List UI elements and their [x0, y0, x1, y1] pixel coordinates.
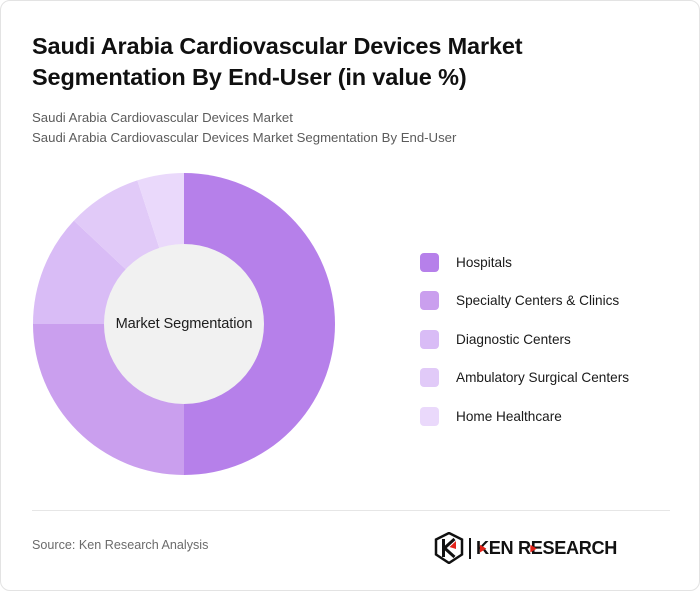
legend-item[interactable]: Home Healthcare — [420, 397, 685, 436]
legend-swatch-icon — [420, 407, 439, 426]
legend-item[interactable]: Ambulatory Surgical Centers — [420, 359, 685, 398]
svg-text:KEN RESEARCH: KEN RESEARCH — [476, 538, 617, 558]
legend-swatch-icon — [420, 368, 439, 387]
legend-item-label: Diagnostic Centers — [456, 332, 571, 347]
ken-research-mark-icon — [434, 532, 464, 564]
chart-body: Market Segmentation HospitalsSpecialty C… — [1, 173, 700, 493]
legend-item[interactable]: Hospitals — [420, 243, 685, 282]
source-text: Source: Ken Research Analysis — [32, 538, 208, 552]
subtitle-line-2: Saudi Arabia Cardiovascular Devices Mark… — [32, 128, 632, 148]
legend-item[interactable]: Diagnostic Centers — [420, 320, 685, 359]
donut-chart: Market Segmentation — [33, 173, 335, 483]
chart-card: Saudi Arabia Cardiovascular Devices Mark… — [0, 0, 700, 591]
ken-research-wordmark: KEN RESEARCH — [476, 537, 670, 559]
legend-item-label: Hospitals — [456, 255, 512, 270]
page-title: Saudi Arabia Cardiovascular Devices Mark… — [32, 31, 632, 93]
chart-footer: Source: Ken Research Analysis KEN RESEAR… — [32, 531, 670, 565]
footer-divider — [32, 510, 670, 511]
brand-separator — [469, 538, 471, 559]
brand-logo: KEN RESEARCH — [434, 531, 670, 565]
breadcrumb: Saudi Arabia Cardiovascular Devices Mark… — [32, 108, 632, 148]
donut-center-label: Market Segmentation — [116, 316, 253, 332]
donut-hole: Market Segmentation — [104, 244, 264, 404]
subtitle-line-1: Saudi Arabia Cardiovascular Devices Mark… — [32, 108, 632, 128]
legend-item-label: Specialty Centers & Clinics — [456, 293, 619, 308]
legend-item[interactable]: Specialty Centers & Clinics — [420, 282, 685, 321]
legend-item-label: Home Healthcare — [456, 409, 562, 424]
chart-legend: HospitalsSpecialty Centers & ClinicsDiag… — [420, 243, 685, 436]
legend-swatch-icon — [420, 291, 439, 310]
legend-swatch-icon — [420, 330, 439, 349]
chart-header: Saudi Arabia Cardiovascular Devices Mark… — [32, 31, 632, 148]
legend-item-label: Ambulatory Surgical Centers — [456, 370, 629, 385]
legend-swatch-icon — [420, 253, 439, 272]
